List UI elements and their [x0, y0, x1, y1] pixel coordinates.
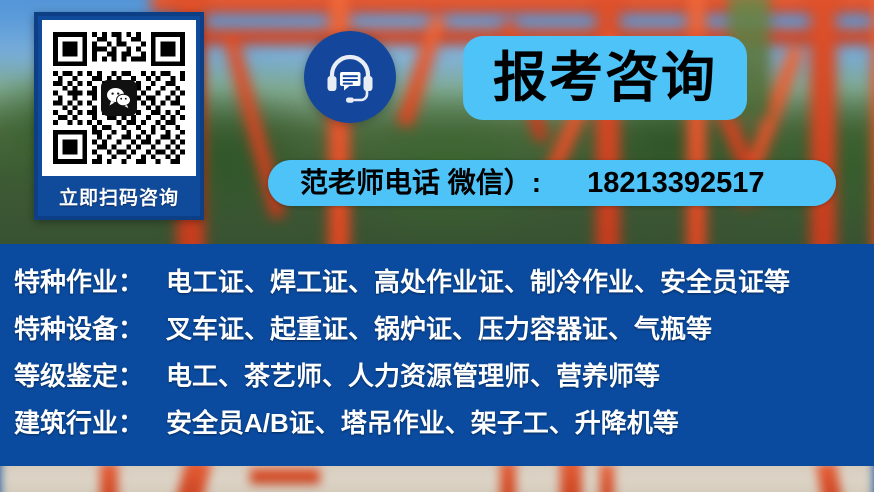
category-label: 等级鉴定： [14, 356, 144, 393]
category-row-construction-industry: 建筑行业： 安全员A/B证、塔吊作业、架子工、升降机等 [0, 403, 874, 450]
bottom-photo-strip [0, 466, 874, 492]
category-items: 安全员A/B证、塔吊作业、架子工、升降机等 [166, 403, 679, 440]
qr-card[interactable]: 立即扫码咨询 [34, 12, 204, 220]
phone-label: 范老师电话 微信）: [300, 169, 541, 197]
category-label: 特种作业： [14, 262, 144, 299]
phone-number[interactable]: 18213392517 [587, 169, 764, 198]
category-row-grade-assessment: 等级鉴定： 电工、茶艺师、人力资源管理师、营养师等 [0, 356, 874, 403]
page-title: 报考咨询 [493, 51, 717, 105]
qr-caption: 立即扫码咨询 [59, 189, 179, 208]
category-label: 特种设备： [14, 309, 144, 346]
category-row-special-operations: 特种作业： 电工证、焊工证、高处作业证、制冷作业、安全员证等 [0, 262, 874, 309]
phone-pill[interactable]: 范老师电话 微信）: 18213392517 [268, 160, 836, 206]
wechat-glyph [106, 87, 132, 109]
category-items: 电工证、焊工证、高处作业证、制冷作业、安全员证等 [166, 262, 790, 299]
headset-glyph [321, 48, 379, 106]
promo-poster: 立即扫码咨询 报考咨询 范老师电话 微信）: 18213392517 [0, 0, 874, 492]
qr-code-icon[interactable] [48, 27, 190, 169]
wechat-icon [101, 80, 137, 116]
qr-code-container[interactable] [42, 20, 196, 176]
category-row-special-equipment: 特种设备： 叉车证、起重证、锅炉证、压力容器证、气瓶等 [0, 309, 874, 356]
category-items: 电工、茶艺师、人力资源管理师、营养师等 [166, 356, 660, 393]
category-label: 建筑行业： [14, 403, 144, 440]
certificate-category-panel: 特种作业： 电工证、焊工证、高处作业证、制冷作业、安全员证等 特种设备： 叉车证… [0, 244, 874, 466]
category-items: 叉车证、起重证、锅炉证、压力容器证、气瓶等 [166, 309, 712, 346]
headset-support-icon [304, 31, 396, 123]
title-pill: 报考咨询 [463, 36, 747, 120]
bottom-strip-photo [0, 466, 874, 492]
